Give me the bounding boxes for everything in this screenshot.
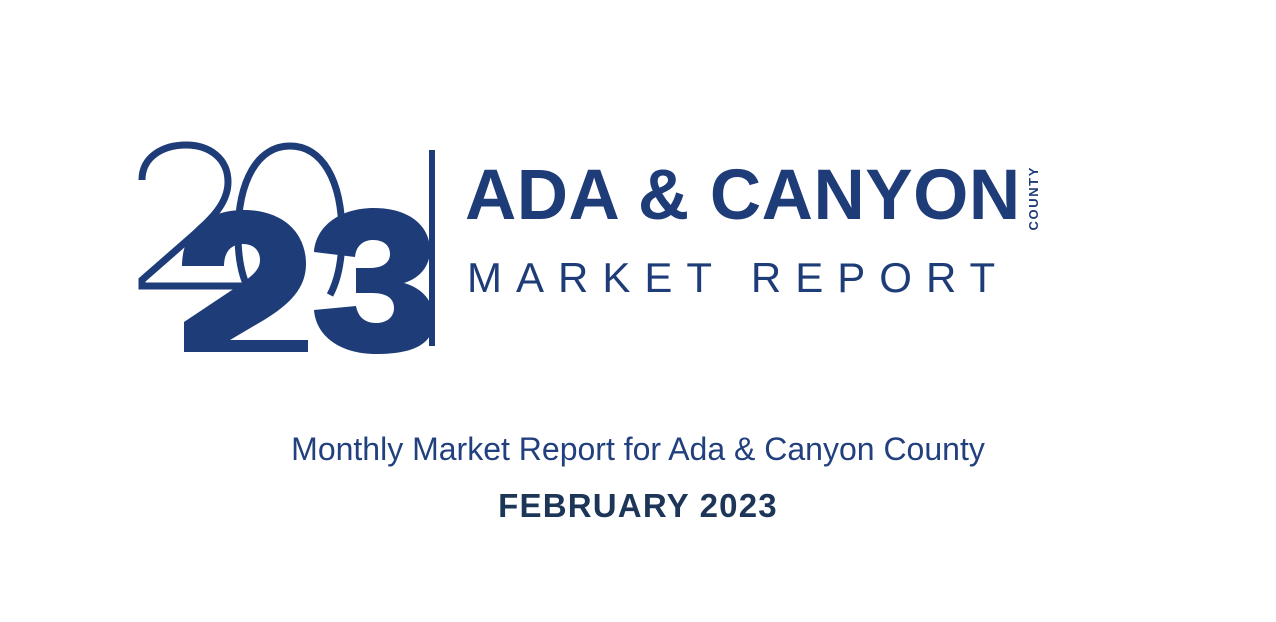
caption-block: Monthly Market Report for Ada & Canyon C…	[0, 430, 1276, 526]
year-mark-2023	[134, 140, 414, 355]
wordmark: ADA & CANYON COUNTY MARKET REPORT	[465, 140, 1125, 355]
logo-divider-bar	[429, 150, 435, 346]
wordmark-sub-text: MARKET REPORT	[467, 257, 1009, 299]
report-subtitle: Monthly Market Report for Ada & Canyon C…	[0, 430, 1276, 468]
report-date: FEBRUARY 2023	[0, 486, 1276, 526]
year-mark-icon	[134, 140, 414, 355]
logo-lockup: ADA & CANYON COUNTY MARKET REPORT	[134, 140, 1134, 355]
wordmark-county-vertical-text: COUNTY	[1027, 166, 1040, 231]
wordmark-main-row: ADA & CANYON COUNTY	[465, 160, 1040, 231]
wordmark-main-text: ADA & CANYON	[465, 160, 1021, 231]
